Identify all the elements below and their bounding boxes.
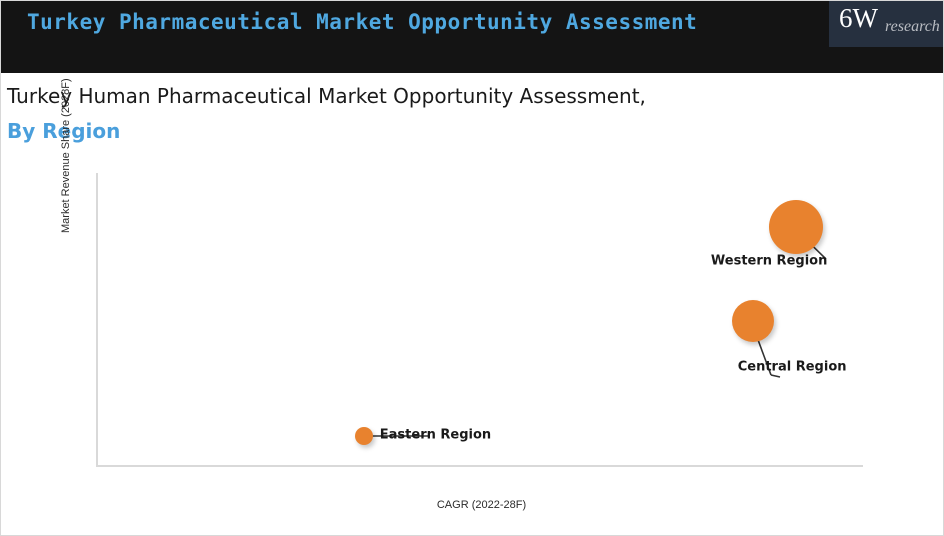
bubble-label-central-region: Central Region (738, 360, 847, 375)
bubble-central-region[interactable] (732, 300, 774, 342)
logo-mark-text: 6W (839, 2, 878, 34)
chart-title: Turkey Human Pharmaceutical Market Oppor… (7, 83, 646, 109)
leader-line-central-hook (771, 375, 780, 377)
bubble-label-eastern-region: Eastern Region (380, 427, 491, 442)
chart-plot-area: Market Revenue Share (2028F) CAGR (2022-… (96, 173, 863, 467)
report-page: Turkey Pharmaceutical Market Opportunity… (0, 0, 944, 536)
bubble-eastern-region[interactable] (355, 427, 373, 445)
brand-logo: 6W research (829, 1, 944, 47)
x-axis-label: CAGR (2022-28F) (98, 499, 865, 511)
bubble-western-region[interactable] (769, 200, 823, 254)
y-axis-label: Market Revenue Share (2028F) (60, 3, 72, 233)
bubble-label-western-region: Western Region (711, 254, 827, 269)
header-bar: Turkey Pharmaceutical Market Opportunity… (1, 1, 944, 73)
page-title: Turkey Pharmaceutical Market Opportunity… (27, 7, 727, 37)
logo-word-text: research (885, 18, 940, 36)
